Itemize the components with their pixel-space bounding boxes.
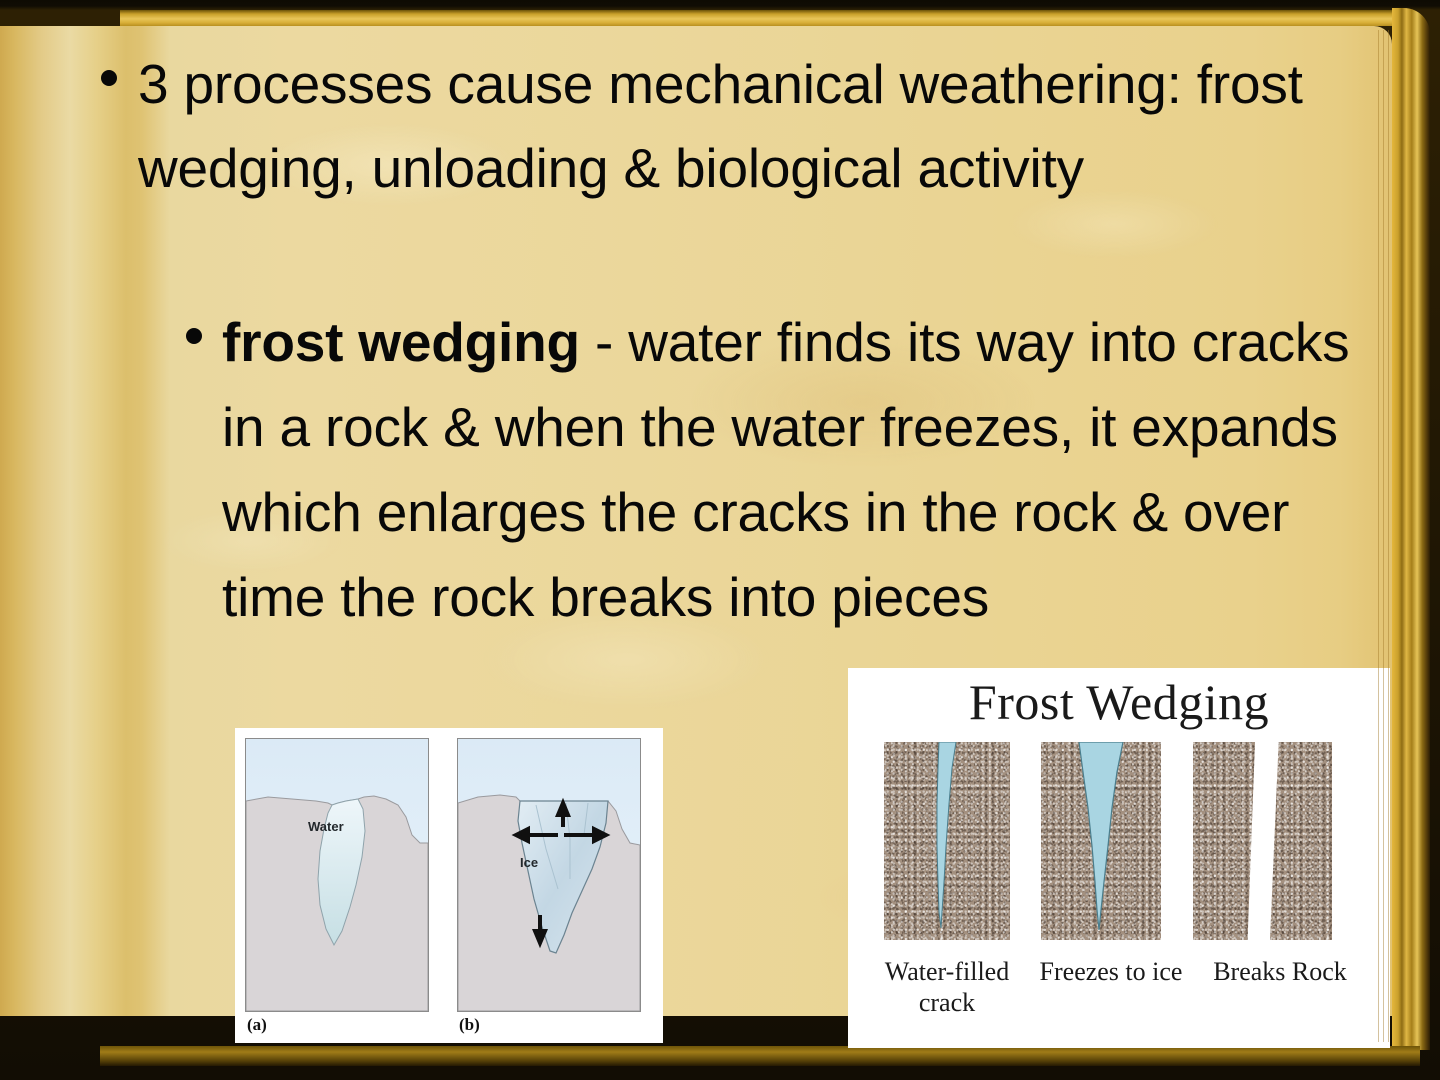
bullet-row-level2: frost wedging - water finds its way into… [0,300,1392,640]
water-label-a: Water [308,819,344,834]
rock-block-stage-3-right [1270,742,1332,940]
page-edge-line-3 [1388,30,1389,1042]
bullet-text-level1: 3 processes cause mechanical weathering:… [138,53,1303,199]
frame-gold-right-band [1392,8,1430,1050]
figure-caption-a: (a) [247,1015,267,1035]
bullet-item-level1: 3 processes cause mechanical weathering:… [0,42,1392,210]
bullet-item-level2: frost wedging - water finds its way into… [0,300,1392,640]
page-edge-line-1 [1378,30,1379,1042]
panel-a-drawing: Water [246,739,428,1011]
slide-root: 3 processes cause mechanical weathering:… [0,0,1440,1080]
bullet-term-frost-wedging: frost wedging [222,311,580,373]
sub-bullet-dot-icon [186,328,202,344]
frost-wedging-caption-3: Breaks Rock [1200,956,1360,987]
figure-caption-b: (b) [459,1015,480,1035]
frost-wedging-caption-1: Water-filled crack [858,956,1036,1018]
crack-water-stage-1 [884,742,1010,940]
frame-gold-top-band [120,10,1424,26]
figure-panel-b: Ice [457,738,641,1012]
page-edge-line-2 [1383,30,1384,1042]
ice-label-b: Ice [520,855,538,870]
rock-block-stage-3-left [1193,742,1255,940]
figure-frost-wedging: Frost Wedging Water-filled crack Freezes… [848,668,1390,1048]
figure-panel-a: Water [245,738,429,1012]
figure-water-ice-crack: Water Ice [235,728,663,1043]
frost-wedging-caption-2: Freezes to ice [1036,956,1186,987]
crack-ice-stage-2 [1041,742,1161,940]
frost-wedging-title: Frost Wedging [848,674,1390,730]
bullet-dot-icon [101,70,117,86]
bullet-row-level1: 3 processes cause mechanical weathering:… [0,42,1392,210]
panel-b-drawing: Ice [458,739,640,1011]
frame-gold-bottom-band [100,1046,1420,1066]
rock-block-stage-1 [884,742,1010,940]
rock-block-stage-2 [1041,742,1161,940]
